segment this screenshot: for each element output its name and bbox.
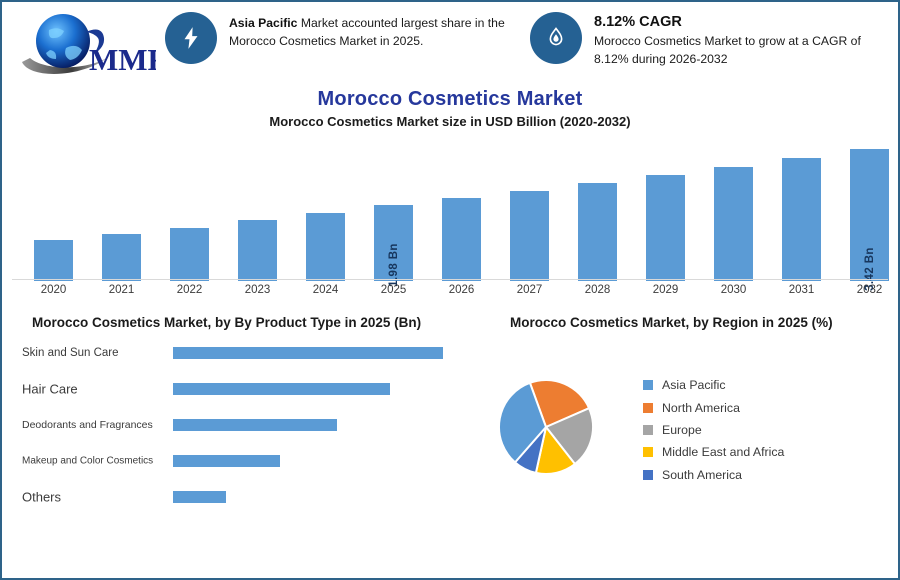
column-bar-2024	[306, 213, 345, 281]
legend-swatch-icon	[643, 447, 653, 457]
column-bar-2032: 3.42 Bn	[850, 149, 889, 281]
legend-label: South America	[662, 468, 742, 482]
product-bar	[173, 455, 280, 467]
svg-text:MMR: MMR	[89, 42, 156, 77]
legend-item: Asia Pacific	[643, 374, 873, 396]
product-bar	[173, 347, 443, 359]
page-title: Morocco Cosmetics Market	[2, 88, 898, 111]
product-bar-row: Makeup and Color Cosmetics	[2, 446, 462, 476]
product-type-bar-chart: Skin and Sun CareHair CareDeodorants and…	[2, 338, 462, 518]
legend-swatch-icon	[643, 380, 653, 390]
column-category-label-2027: 2027	[500, 284, 560, 296]
region-chart-title: Morocco Cosmetics Market, by Region in 2…	[510, 315, 833, 330]
column-category-label-2024: 2024	[296, 284, 356, 296]
product-bar	[173, 419, 337, 431]
column-bar-2025: 1.98 Bn	[374, 205, 413, 281]
column-bar-2028	[578, 183, 617, 281]
product-bar-label: Deodorants and Fragrances	[22, 419, 153, 431]
lightning-bolt-icon	[165, 12, 217, 64]
column-bar-2027	[510, 191, 549, 281]
infographic-page: MMR Asia Pacific Market accounted larges…	[0, 0, 900, 580]
legend-swatch-icon	[643, 470, 653, 480]
product-bar-row: Deodorants and Fragrances	[2, 410, 462, 440]
region-legend: Asia PacificNorth AmericaEuropeMiddle Ea…	[643, 374, 873, 486]
column-category-label-2030: 2030	[704, 284, 764, 296]
column-bar-2021	[102, 234, 141, 281]
column-bar-2030	[714, 167, 753, 281]
product-bar-label: Makeup and Color Cosmetics	[22, 456, 153, 467]
legend-label: North America	[662, 401, 740, 415]
column-category-label-2025: 2025	[364, 284, 424, 296]
column-category-label-2031: 2031	[772, 284, 832, 296]
legend-label: Asia Pacific	[662, 378, 726, 392]
column-bar-2031	[782, 158, 821, 281]
legend-swatch-icon	[643, 425, 653, 435]
highlight-text-region: Asia Pacific Market accounted largest sh…	[229, 14, 515, 50]
column-category-label-2022: 2022	[160, 284, 220, 296]
product-bar-row: Hair Care	[2, 374, 462, 404]
highlight-lead-region: Asia Pacific	[229, 16, 297, 30]
page-subtitle: Morocco Cosmetics Market size in USD Bil…	[2, 114, 898, 129]
highlight-text-cagr: 8.12% CAGRMorocco Cosmetics Market to gr…	[594, 12, 890, 68]
mmr-logo: MMR	[16, 8, 156, 80]
legend-label: Middle East and Africa	[662, 445, 784, 459]
column-bar-2026	[442, 198, 481, 281]
column-category-label-2026: 2026	[432, 284, 492, 296]
cagr-stat: 8.12% CAGR	[594, 12, 890, 32]
region-pie-chart	[472, 350, 622, 502]
product-bar-label: Others	[22, 490, 61, 505]
header: MMR Asia Pacific Market accounted larges…	[2, 2, 898, 84]
column-bar-2023	[238, 220, 277, 281]
column-bars: 1.98 Bn3.42 Bn	[10, 136, 894, 281]
product-bar-row: Skin and Sun Care	[2, 338, 462, 368]
column-category-label-2029: 2029	[636, 284, 696, 296]
column-category-label-2032: 2032	[840, 284, 900, 296]
product-chart-title: Morocco Cosmetics Market, by By Product …	[32, 315, 421, 330]
legend-item: South America	[643, 464, 873, 486]
column-chart-axis	[12, 279, 888, 280]
legend-swatch-icon	[643, 403, 653, 413]
product-bar-label: Hair Care	[22, 382, 78, 397]
column-category-label-2021: 2021	[92, 284, 152, 296]
product-bar-label: Skin and Sun Care	[22, 347, 119, 359]
product-bar	[173, 383, 390, 395]
column-category-label-2023: 2023	[228, 284, 288, 296]
product-bar-row: Others	[2, 482, 462, 512]
column-value-label-2025: 1.98 Bn	[388, 243, 400, 287]
product-bar	[173, 491, 226, 503]
column-bar-2020	[34, 240, 73, 281]
column-category-label-2020: 2020	[24, 284, 84, 296]
column-bar-2029	[646, 175, 685, 281]
column-category-label-2028: 2028	[568, 284, 628, 296]
water-drop-icon	[530, 12, 582, 64]
column-bar-2022	[170, 228, 209, 281]
legend-label: Europe	[662, 423, 702, 437]
legend-item: Europe	[643, 419, 873, 441]
legend-item: Middle East and Africa	[643, 441, 873, 463]
highlight-card-cagr: 8.12% CAGRMorocco Cosmetics Market to gr…	[530, 12, 890, 74]
cagr-body: Morocco Cosmetics Market to grow at a CA…	[594, 34, 861, 66]
highlight-card-region: Asia Pacific Market accounted largest sh…	[165, 12, 515, 74]
legend-item: North America	[643, 396, 873, 418]
